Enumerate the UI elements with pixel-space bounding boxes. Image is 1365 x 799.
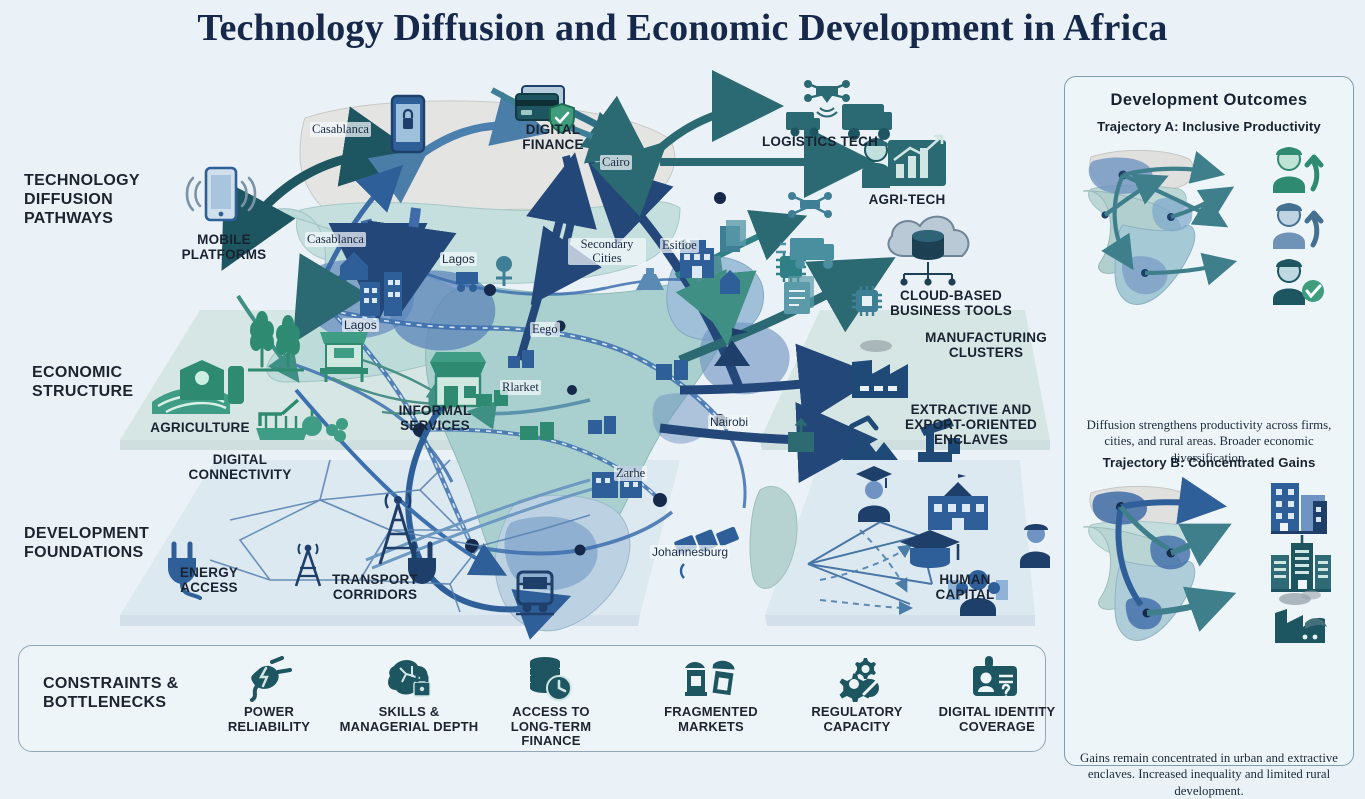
id-card-question-icon <box>973 656 1021 702</box>
node-label-human-capital: Human Capital <box>900 572 1030 602</box>
worker-blue-up-icon <box>1273 204 1321 250</box>
highrise-towers-icon <box>1271 535 1331 592</box>
constraints-bar-label: Constraints & Bottlenecks <box>43 674 203 712</box>
panel-title: Development Outcomes <box>1065 91 1353 110</box>
brain-lock-icon <box>384 656 434 702</box>
constraint-regulatory-capacity[interactable]: Regulatory Capacity <box>787 656 927 744</box>
constraint-label: Skills & Managerial Depth <box>340 705 479 734</box>
constraint-label: Regulatory Capacity <box>811 705 902 734</box>
split-shops-icon <box>685 656 737 702</box>
coins-clock-icon <box>527 656 575 702</box>
node-label-energy-access: Energy Access <box>154 565 264 595</box>
trajectory-a-visual <box>1071 139 1347 314</box>
city-label: Nairobi <box>708 415 750 429</box>
constraint-access-long-term-finance[interactable]: Access to Long-Term Finance <box>481 656 621 744</box>
node-label-manufacturing-clusters: Manufacturing Clusters <box>906 330 1066 360</box>
constraint-label: Power Reliability <box>228 705 310 734</box>
city-label: Lagos <box>342 318 379 332</box>
node-label-extractive-enclaves: Extractive and Export-Oriented Enclaves <box>886 402 1056 447</box>
office-buildings-icon <box>1271 483 1327 534</box>
trajectory-a-title: Trajectory A: Inclusive Productivity <box>1065 119 1353 134</box>
worker-check-icon <box>1273 260 1324 306</box>
node-label-transport-corridors: Transport Corridors <box>300 572 450 602</box>
cloud-database-icon <box>888 217 968 286</box>
city-label: Esitioe <box>660 238 699 253</box>
city-label: Eego <box>530 322 560 337</box>
factory-smoke-icon <box>1275 591 1327 644</box>
city-label: Zarhe <box>614 466 647 481</box>
node-label-logistics-tech: Logistics Tech <box>740 134 900 149</box>
trajectory-b-description: Gains remain concentrated in urban and e… <box>1079 750 1339 799</box>
city-label: Secondary Cities <box>568 238 646 265</box>
constraint-fragmented-markets[interactable]: Fragmented Markets <box>641 656 781 744</box>
page-title: Technology Diffusion and Economic Develo… <box>0 6 1365 50</box>
node-label-cloud-business-tools: Cloud-Based Business Tools <box>872 288 1030 318</box>
phone-lock-icon <box>392 96 424 152</box>
trajectory-b-title: Trajectory B: Concentrated Gains <box>1065 455 1353 470</box>
constraint-label: Fragmented Markets <box>664 705 758 734</box>
constraint-digital-identity-coverage[interactable]: Digital Identity Coverage <box>927 656 1067 744</box>
document-icon <box>784 276 814 314</box>
smartphone-signal-icon <box>187 168 255 220</box>
city-label: Casablanca <box>310 122 371 137</box>
infographic-root: Technology Diffusion and Economic Develo… <box>0 0 1365 768</box>
city-label: Rlarket <box>500 380 541 395</box>
diffusion-map-stage: Mobile Platforms Digital Finance Logisti… <box>120 60 1050 640</box>
node-label-agriculture: Agriculture <box>130 420 270 435</box>
node-label-agri-tech: Agri-Tech <box>842 192 972 207</box>
city-label: Lagos <box>440 252 477 266</box>
node-label-digital-finance: Digital Finance <box>498 122 608 152</box>
city-label: Cairo <box>600 155 632 170</box>
constraint-label: Access to Long-Term Finance <box>481 705 621 749</box>
drone-icon-mid <box>788 192 832 218</box>
city-label: Johannesburg <box>650 545 730 559</box>
constraint-label: Digital Identity Coverage <box>939 705 1056 734</box>
trajectory-b-visual <box>1071 475 1347 650</box>
constraint-skills-managerial-depth[interactable]: Skills & Managerial Depth <box>339 656 479 744</box>
node-label-mobile-platforms: Mobile Platforms <box>164 232 284 262</box>
node-label-digital-connectivity: Digital Connectivity <box>170 452 310 482</box>
worker-green-up-icon <box>1273 148 1321 194</box>
development-outcomes-panel: Development Outcomes Trajectory A: Inclu… <box>1064 76 1354 766</box>
plug-bolt-icon <box>246 656 292 702</box>
gears-block-icon <box>833 656 881 702</box>
city-label: Casablanca <box>305 232 366 247</box>
constraints-bar: Constraints & Bottlenecks Power Reliabil… <box>18 645 1046 752</box>
node-label-informal-services: Informal Services <box>370 403 500 433</box>
constraint-power-reliability[interactable]: Power Reliability <box>199 656 339 744</box>
drone-truck-icon <box>786 80 892 140</box>
